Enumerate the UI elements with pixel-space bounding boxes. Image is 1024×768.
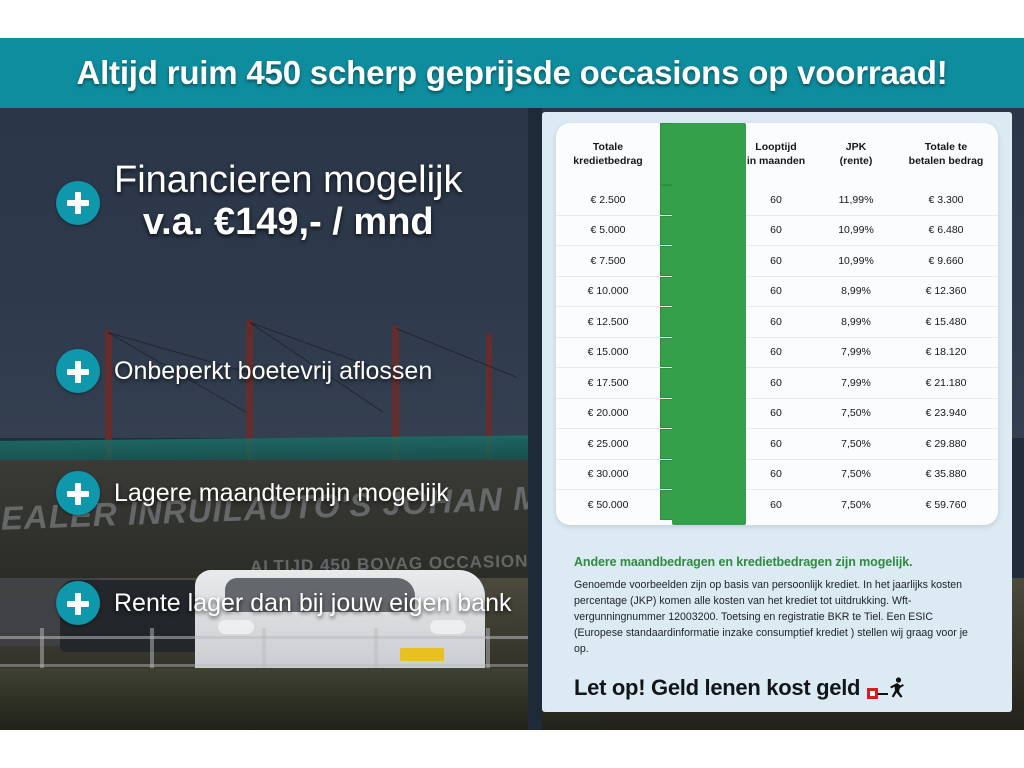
benefit-lower-interest-label: Rente lager dan bij jouw eigen bank [114,589,512,618]
warning-red-box [867,688,878,699]
rate-cell-r6-c0: € 17.500 [556,368,660,399]
rate-table-header-3: JPK(rente) [818,123,894,185]
rate-cell-r9-c2: 60 [734,459,818,490]
plus-icon [56,471,100,515]
rate-table-header-2: Looptijdin maanden [734,123,818,185]
rate-cell-r7-c0: € 20.000 [556,398,660,429]
rate-table-body: € 2.500€ 556011,99%€ 3.300€ 5.000€ 10860… [556,185,998,520]
rate-cell-r6-c3: 7,99% [818,368,894,399]
plus-icon [56,349,100,393]
rate-cell-r7-c2: 60 [734,398,818,429]
rate-cell-r4-c3: 8,99% [818,307,894,338]
rate-cell-r0-c1: € 55 [660,185,734,215]
rate-cell-r5-c0: € 15.000 [556,337,660,368]
rate-cell-r8-c2: 60 [734,429,818,460]
table-row: € 2.500€ 556011,99%€ 3.300 [556,185,998,215]
rate-cell-r10-c0: € 50.000 [556,490,660,520]
rate-cell-r8-c3: 7,50% [818,429,894,460]
rate-cell-r1-c4: € 6.480 [894,215,998,246]
rate-table-header-0: Totalekredietbedrag [556,123,660,185]
rate-table-card: TotalekredietbedragTermijnbedragLooptijd… [556,123,998,525]
rate-cell-r1-c3: 10,99% [818,215,894,246]
rate-table-header-row: TotalekredietbedragTermijnbedragLooptijd… [556,123,998,185]
finance-info-panel: TotalekredietbedragTermijnbedragLooptijd… [542,112,1012,712]
rate-cell-r3-c2: 60 [734,276,818,307]
rate-cell-r9-c0: € 30.000 [556,459,660,490]
rate-cell-r10-c1: € 996 [660,490,734,520]
rate-cell-r0-c2: 60 [734,185,818,215]
headline-banner: Altijd ruim 450 scherp geprijsde occasio… [0,38,1024,108]
rate-cell-r2-c0: € 7.500 [556,246,660,277]
headline-banner-text: Altijd ruim 450 scherp geprijsde occasio… [76,54,947,92]
rate-cell-r1-c2: 60 [734,215,818,246]
disclaimer-body: Genoemde voorbeelden zijn op basis van p… [574,578,984,657]
rate-cell-r4-c0: € 12.500 [556,307,660,338]
rate-cell-r4-c2: 60 [734,307,818,338]
rate-cell-r2-c1: € 161 [660,246,734,277]
credit-warning: Let op! Geld lenen kost geld [574,675,994,701]
rate-cell-r0-c4: € 3.300 [894,185,998,215]
table-row: € 15.000€ 302607,99%€ 18.120 [556,337,998,368]
rate-cell-r10-c2: 60 [734,490,818,520]
table-row: € 12.500€ 258608,99%€ 15.480 [556,307,998,338]
rate-cell-r3-c1: € 206 [660,276,734,307]
running-man-icon [867,677,904,699]
benefit-financing-line2: v.a. €149,- / mnd [114,201,463,245]
rate-cell-r8-c0: € 25.000 [556,429,660,460]
rate-cell-r2-c4: € 9.660 [894,246,998,277]
rate-cell-r5-c4: € 18.120 [894,337,998,368]
rate-cell-r8-c1: € 498 [660,429,734,460]
benefit-early-repayment-label: Onbeperkt boetevrij aflossen [114,357,432,386]
table-row: € 50.000€ 996607,50%€ 59.760 [556,490,998,520]
plus-icon [56,581,100,625]
rate-cell-r0-c3: 11,99% [818,185,894,215]
rate-cell-r3-c3: 8,99% [818,276,894,307]
table-row: € 20.000€ 399607,50%€ 23.940 [556,398,998,429]
benefit-item-lower-installment: Lagere maandtermijn mogelijk [56,471,449,515]
rate-cell-r2-c3: 10,99% [818,246,894,277]
table-row: € 30.000€ 598607,50%€ 35.880 [556,459,998,490]
rate-cell-r4-c1: € 258 [660,307,734,338]
rate-cell-r1-c1: € 108 [660,215,734,246]
benefit-item-lower-interest: Rente lager dan bij jouw eigen bank [56,581,512,625]
running-man-glyph [888,677,904,699]
disclaimer-block: Andere maandbedragen en kredietbedragen … [574,555,984,657]
rate-cell-r1-c0: € 5.000 [556,215,660,246]
credit-warning-text: Let op! Geld lenen kost geld [574,675,860,701]
rate-cell-r5-c3: 7,99% [818,337,894,368]
rate-cell-r7-c3: 7,50% [818,398,894,429]
rate-cell-r7-c4: € 23.940 [894,398,998,429]
rate-cell-r10-c3: 7,50% [818,490,894,520]
rate-cell-r6-c2: 60 [734,368,818,399]
benefit-lower-installment-label: Lagere maandtermijn mogelijk [114,479,449,508]
rate-cell-r9-c4: € 35.880 [894,459,998,490]
rate-cell-r5-c2: 60 [734,337,818,368]
rate-table-header-4: Totale tebetalen bedrag [894,123,998,185]
rate-cell-r5-c1: € 302 [660,337,734,368]
rate-cell-r7-c1: € 399 [660,398,734,429]
rate-cell-r4-c4: € 15.480 [894,307,998,338]
benefit-item-financing: Financieren mogelijk v.a. €149,- / mnd [56,161,463,245]
table-row: € 10.000€ 206608,99%€ 12.360 [556,276,998,307]
advertisement-slide: Altijd ruim 450 scherp geprijsde occasio… [0,0,1024,768]
plus-icon [56,181,100,225]
table-row: € 25.000€ 498607,50%€ 29.880 [556,429,998,460]
rate-cell-r3-c4: € 12.360 [894,276,998,307]
rate-table-header-1: Termijnbedrag [660,123,734,185]
rate-cell-r8-c4: € 29.880 [894,429,998,460]
table-row: € 7.500€ 1616010,99%€ 9.660 [556,246,998,277]
warning-dash [878,693,888,695]
table-row: € 17.500€ 353607,99%€ 21.180 [556,368,998,399]
rate-cell-r10-c4: € 59.760 [894,490,998,520]
rate-table: TotalekredietbedragTermijnbedragLooptijd… [556,123,998,520]
rate-cell-r9-c3: 7,50% [818,459,894,490]
benefits-list: Financieren mogelijk v.a. €149,- / mnd O… [0,108,540,730]
rate-cell-r9-c1: € 598 [660,459,734,490]
benefit-item-early-repayment: Onbeperkt boetevrij aflossen [56,349,432,393]
disclaimer-heading: Andere maandbedragen en kredietbedragen … [574,555,984,569]
rate-cell-r2-c2: 60 [734,246,818,277]
table-row: € 5.000€ 1086010,99%€ 6.480 [556,215,998,246]
rate-cell-r6-c1: € 353 [660,368,734,399]
rate-cell-r3-c0: € 10.000 [556,276,660,307]
benefit-financing-line1: Financieren mogelijk [114,161,463,201]
rate-cell-r6-c4: € 21.180 [894,368,998,399]
rate-cell-r0-c0: € 2.500 [556,185,660,215]
